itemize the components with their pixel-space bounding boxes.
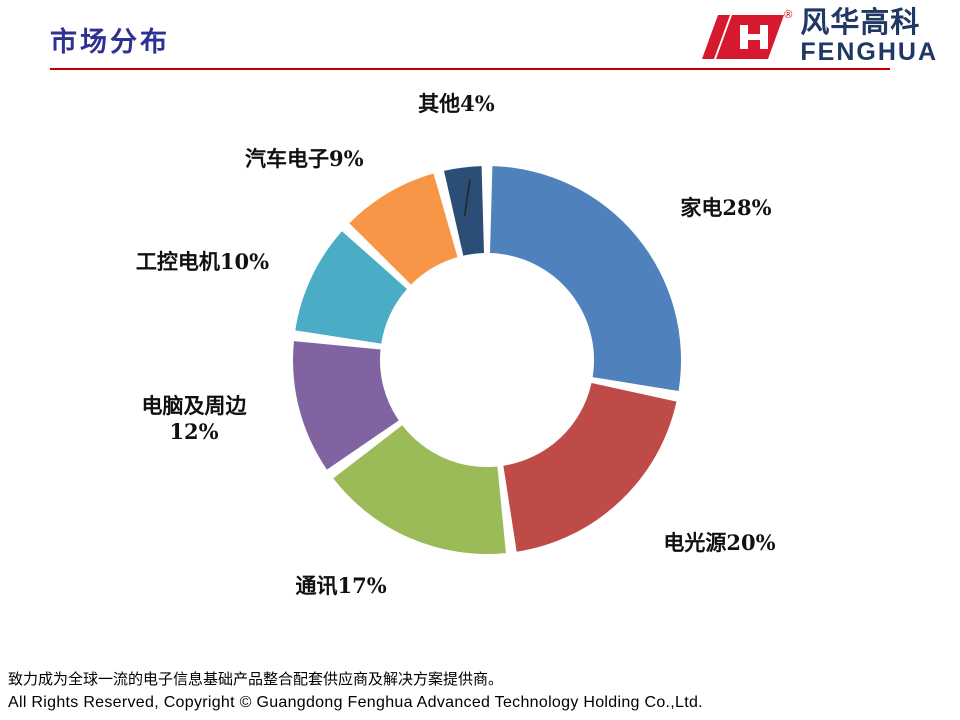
- slice-label-line: 12%: [141, 419, 246, 445]
- title-divider: [50, 68, 890, 70]
- slice-label: 电光源20%: [663, 530, 775, 556]
- donut-svg: [0, 80, 960, 640]
- logo-chinese-name: 风华高科: [800, 8, 938, 37]
- donut-slice-group: [293, 166, 681, 554]
- donut-slice[interactable]: [503, 383, 676, 552]
- footer: 致力成为全球一流的电子信息基础产品整合配套供应商及解决方案提供商。 All Ri…: [8, 669, 703, 714]
- slice-label: 汽车电子9%: [245, 146, 364, 172]
- footer-slogan: 致力成为全球一流的电子信息基础产品整合配套供应商及解决方案提供商。: [8, 669, 703, 691]
- page-title: 市场分布: [50, 20, 170, 59]
- slide-root: 市场分布 ® 风华高科 FENGHUA: [0, 0, 960, 720]
- slice-label: 工控电机10%: [136, 249, 269, 275]
- slice-label: 通讯17%: [295, 573, 386, 599]
- market-distribution-donut-chart: 家电28%电光源20%通讯17%电脑及周边12%工控电机10%汽车电子9%其他4…: [0, 80, 960, 640]
- company-logo: ® 风华高科 FENGHUA: [698, 8, 938, 65]
- logo-text-block: 风华高科 FENGHUA: [800, 8, 938, 65]
- slice-label: 家电28%: [680, 195, 771, 221]
- footer-copyright: All Rights Reserved, Copyright © Guangdo…: [8, 691, 703, 714]
- registered-trademark-icon: ®: [784, 9, 792, 21]
- slice-label: 电脑及周边12%: [141, 393, 246, 446]
- slice-label-line: 电脑及周边: [141, 393, 246, 419]
- fenghua-fh-mark-icon: ®: [698, 11, 790, 63]
- logo-english-name: FENGHUA: [800, 40, 938, 65]
- donut-slice[interactable]: [490, 166, 681, 391]
- slice-label: 其他4%: [418, 91, 495, 117]
